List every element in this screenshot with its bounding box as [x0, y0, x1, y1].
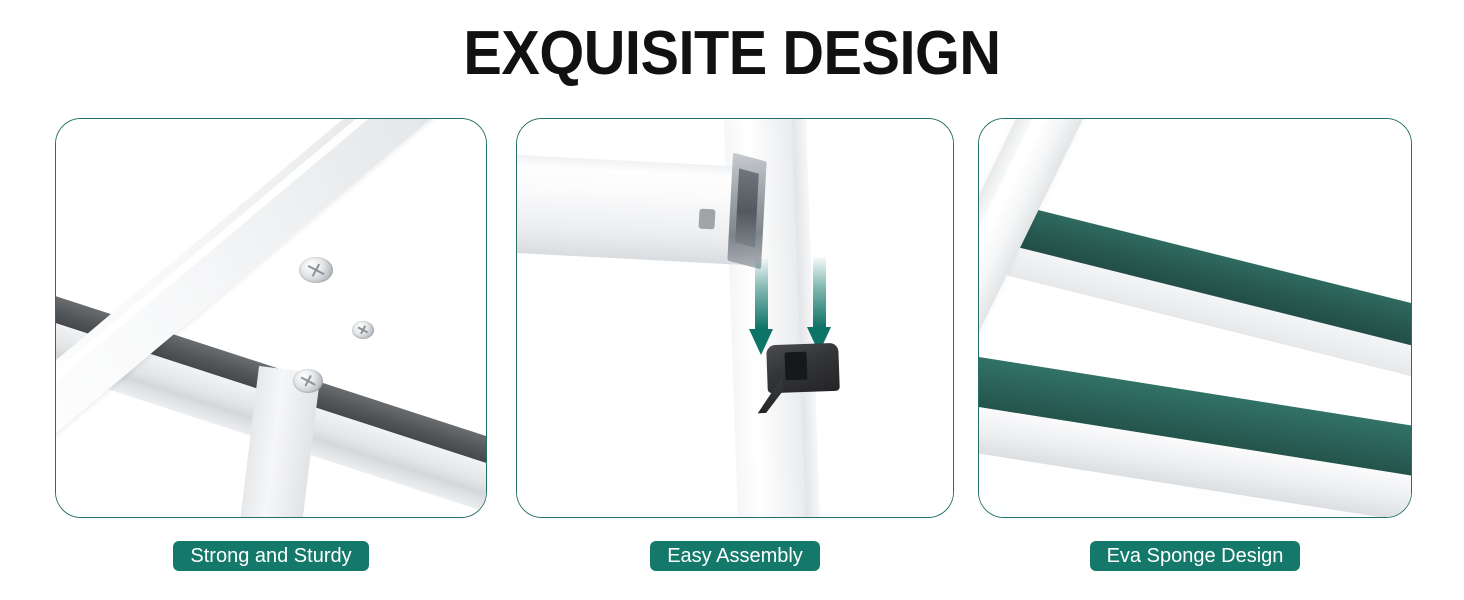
- caption-row: Easy Assembly: [516, 541, 954, 571]
- feature-caption-badge: Eva Sponge Design: [1090, 541, 1301, 571]
- arrow-shaft: [755, 259, 768, 329]
- feature-panel-strong-and-sturdy: Strong and Sturdy: [55, 118, 487, 571]
- tube-locking-slot: [698, 209, 715, 230]
- feature-panel-easy-assembly: Easy Assembly: [516, 118, 954, 571]
- feature-caption-badge: Easy Assembly: [650, 541, 820, 571]
- screw-icon: [293, 369, 323, 393]
- clip-notch: [785, 352, 808, 381]
- feature-caption-badge: Strong and Sturdy: [173, 541, 368, 571]
- caption-row: Strong and Sturdy: [55, 541, 487, 571]
- bolt-icon: [352, 321, 374, 339]
- page-title: EXQUISITE DESIGN: [51, 18, 1413, 90]
- screw-icon: [299, 257, 333, 283]
- product-photo-eva-sponge-design: [979, 119, 1411, 517]
- product-photo-easy-assembly: [517, 119, 953, 517]
- product-photo-strong-and-sturdy: [56, 119, 486, 517]
- down-arrow-icon: [749, 259, 773, 355]
- down-arrow-icon: [807, 257, 831, 353]
- caption-row: Eva Sponge Design: [978, 541, 1412, 571]
- product-feature-banner: EXQUISITE DESIGN Strong and Sturdy: [0, 0, 1464, 600]
- feature-image-frame: [978, 118, 1412, 518]
- feature-panel-eva-sponge-design: Eva Sponge Design: [978, 118, 1412, 571]
- tube-hollow-opening: [735, 168, 759, 247]
- feature-image-frame: [516, 118, 954, 518]
- arrow-shaft: [813, 257, 826, 327]
- feature-image-frame: [55, 118, 487, 518]
